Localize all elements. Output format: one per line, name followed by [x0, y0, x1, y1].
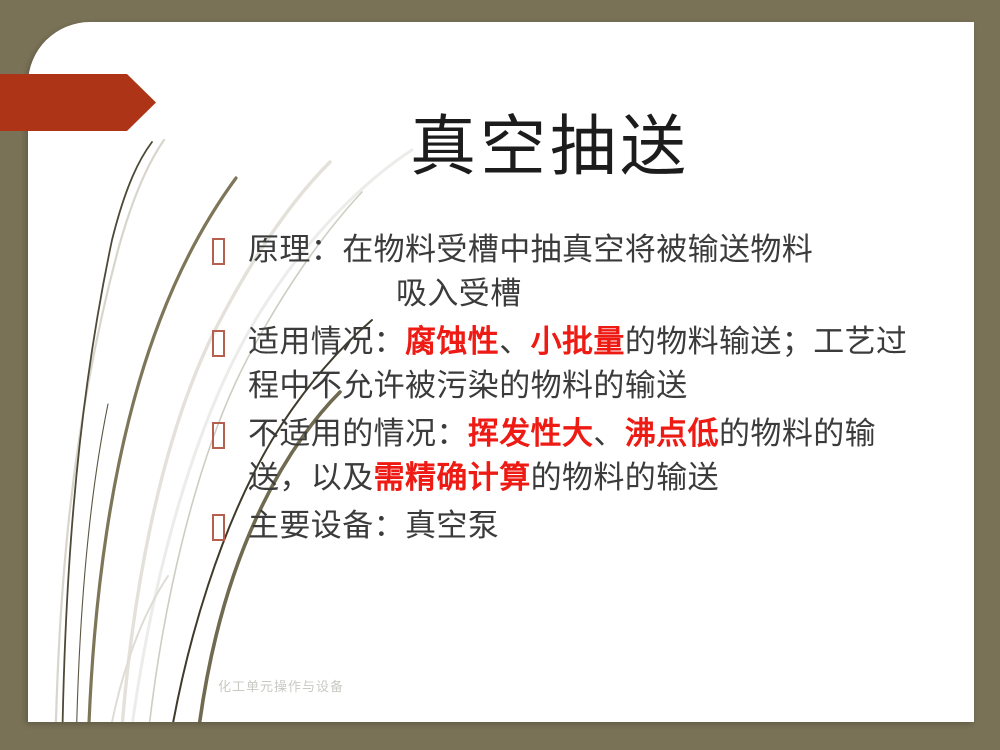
bullet-4-seg-1: 主要设备：真空泵: [248, 508, 499, 544]
list-item: 不适用的情况：挥发性大、沸点低的物料的输送，以及需精确计算的物料的输送: [212, 412, 912, 500]
list-item-text: 不适用的情况：挥发性大、沸点低的物料的输送，以及需精确计算的物料的输送: [248, 412, 912, 500]
slide-footer-note: 化工单元操作与设备: [218, 676, 344, 695]
tofu-box-bullet-icon: [212, 238, 225, 265]
bullet-2-emphasis-2: 小批量: [531, 324, 625, 360]
bullet-2-seg-2: 、: [499, 324, 530, 360]
bullet-3-seg-4: 的物料的输送: [531, 460, 719, 496]
bullet-1-line-2: 吸入受槽: [248, 272, 912, 316]
bullet-2-seg-1: 适用情况：: [248, 324, 405, 360]
slide-title: 真空抽送: [180, 110, 920, 184]
bullet-3-emphasis-2: 沸点低: [625, 416, 719, 452]
list-item-text: 适用情况：腐蚀性、小批量的物料输送；工艺过程中不允许被污染的物料的输送: [248, 320, 912, 408]
bullet-3-emphasis-1: 挥发性大: [468, 416, 594, 452]
list-item-text: 原理：在物料受槽中抽真空将被输送物料 吸入受槽: [248, 228, 912, 316]
slide-body-list: 原理：在物料受槽中抽真空将被输送物料 吸入受槽 适用情况：腐蚀性、小批量的物料输…: [212, 228, 912, 548]
bullet-1-line-1: 原理：在物料受槽中抽真空将被输送物料: [248, 232, 813, 268]
tofu-box-bullet-icon: [212, 514, 225, 541]
list-item: 适用情况：腐蚀性、小批量的物料输送；工艺过程中不允许被污染的物料的输送: [212, 320, 912, 408]
bullet-3-seg-2: 、: [593, 416, 624, 452]
bullet-2-emphasis-1: 腐蚀性: [405, 324, 499, 360]
list-item: 主要设备：真空泵: [212, 504, 912, 548]
tofu-box-bullet-icon: [212, 422, 225, 449]
bullet-3-seg-1: 不适用的情况：: [248, 416, 468, 452]
presentation-slide: 真空抽送 原理：在物料受槽中抽真空将被输送物料 吸入受槽 适用情况：腐蚀性、小批…: [0, 0, 1000, 750]
arrow-banner-shape: [0, 74, 156, 131]
list-item-text: 主要设备：真空泵: [248, 504, 912, 548]
list-item: 原理：在物料受槽中抽真空将被输送物料 吸入受槽: [212, 228, 912, 316]
tofu-box-bullet-icon: [212, 330, 225, 357]
bullet-3-emphasis-3: 需精确计算: [374, 460, 531, 496]
